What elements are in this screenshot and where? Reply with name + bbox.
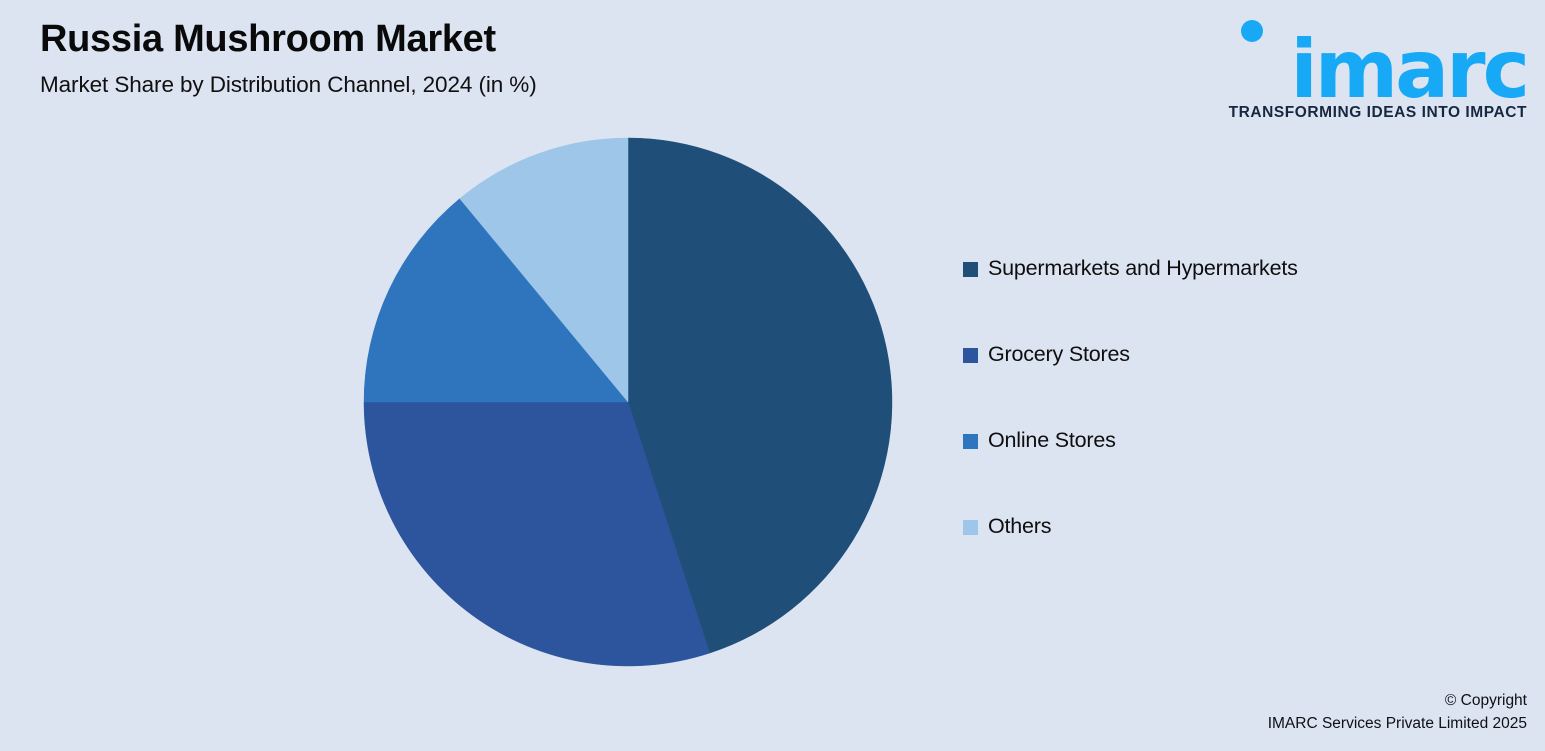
copyright-line-1: © Copyright <box>1268 690 1527 712</box>
copyright-notice: © Copyright IMARC Services Private Limit… <box>1268 690 1527 735</box>
chart-canvas: Russia Mushroom Market Market Share by D… <box>0 0 1545 751</box>
pie-chart <box>363 137 893 667</box>
imarc-logo: imarc TRANSFORMING IDEAS INTO IMPACT <box>1217 16 1527 122</box>
legend-item[interactable]: Online Stores <box>963 430 1413 452</box>
copyright-line-2: IMARC Services Private Limited 2025 <box>1268 713 1527 735</box>
logo-mark: imarc <box>1217 16 1527 108</box>
legend-label: Grocery Stores <box>988 344 1130 366</box>
legend-swatch-icon <box>963 262 978 277</box>
chart-subtitle: Market Share by Distribution Channel, 20… <box>40 71 800 98</box>
legend-item[interactable]: Grocery Stores <box>963 344 1413 366</box>
legend-item[interactable]: Others <box>963 516 1413 538</box>
page-title: Russia Mushroom Market <box>40 18 800 62</box>
legend-swatch-icon <box>963 520 978 535</box>
chart-legend: Supermarkets and HypermarketsGrocery Sto… <box>963 258 1413 538</box>
legend-swatch-icon <box>963 434 978 449</box>
legend-swatch-icon <box>963 348 978 363</box>
legend-label: Online Stores <box>988 430 1116 452</box>
pie-chart-svg <box>363 137 893 667</box>
pie-slice-group <box>364 138 892 666</box>
logo-dot-icon <box>1241 20 1263 42</box>
legend-label: Supermarkets and Hypermarkets <box>988 258 1298 280</box>
chart-header: Russia Mushroom Market Market Share by D… <box>40 18 800 98</box>
legend-label: Others <box>988 516 1051 538</box>
logo-wordmark: imarc <box>1290 32 1527 108</box>
legend-item[interactable]: Supermarkets and Hypermarkets <box>963 258 1413 280</box>
